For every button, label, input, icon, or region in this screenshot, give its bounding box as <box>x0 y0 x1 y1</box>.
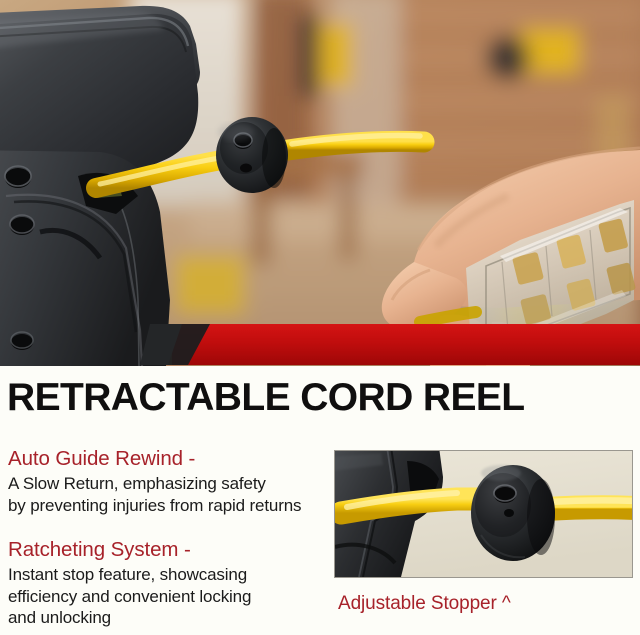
inset-caption: Adjustable Stopper ^ <box>338 592 511 616</box>
product-feature-infographic: RETRACTABLE CORD REEL Auto Guide Rewind … <box>0 0 640 635</box>
feature-heading: Ratcheting System - <box>8 537 326 563</box>
feature-list: Auto Guide Rewind - A Slow Return, empha… <box>8 446 326 635</box>
feature-description: A Slow Return, emphasizing safety by pre… <box>8 473 326 516</box>
red-accent-band <box>172 324 640 365</box>
adjustable-stopper <box>216 117 288 193</box>
feature-heading: Auto Guide Rewind - <box>8 446 326 472</box>
page-title: RETRACTABLE CORD REEL <box>7 377 637 419</box>
feature-description-line: Instant stop feature, showcasing <box>8 564 326 586</box>
feature-description-line: and unlocking <box>8 607 326 629</box>
adjustable-stopper-photo <box>334 450 633 578</box>
hero-photo <box>0 0 640 366</box>
feature-description-line: by preventing injuries from rapid return… <box>8 495 326 517</box>
hero-photo-illustration <box>0 0 640 366</box>
feature-description-line: efficiency and convenient locking <box>8 586 326 608</box>
feature-description: Instant stop feature, showcasing efficie… <box>8 564 326 629</box>
feature-ratcheting-system: Ratcheting System - Instant stop feature… <box>8 537 326 629</box>
adjustable-stopper-illustration <box>335 451 632 577</box>
feature-description-line: A Slow Return, emphasizing safety <box>8 473 326 495</box>
feature-auto-guide-rewind: Auto Guide Rewind - A Slow Return, empha… <box>8 446 326 516</box>
